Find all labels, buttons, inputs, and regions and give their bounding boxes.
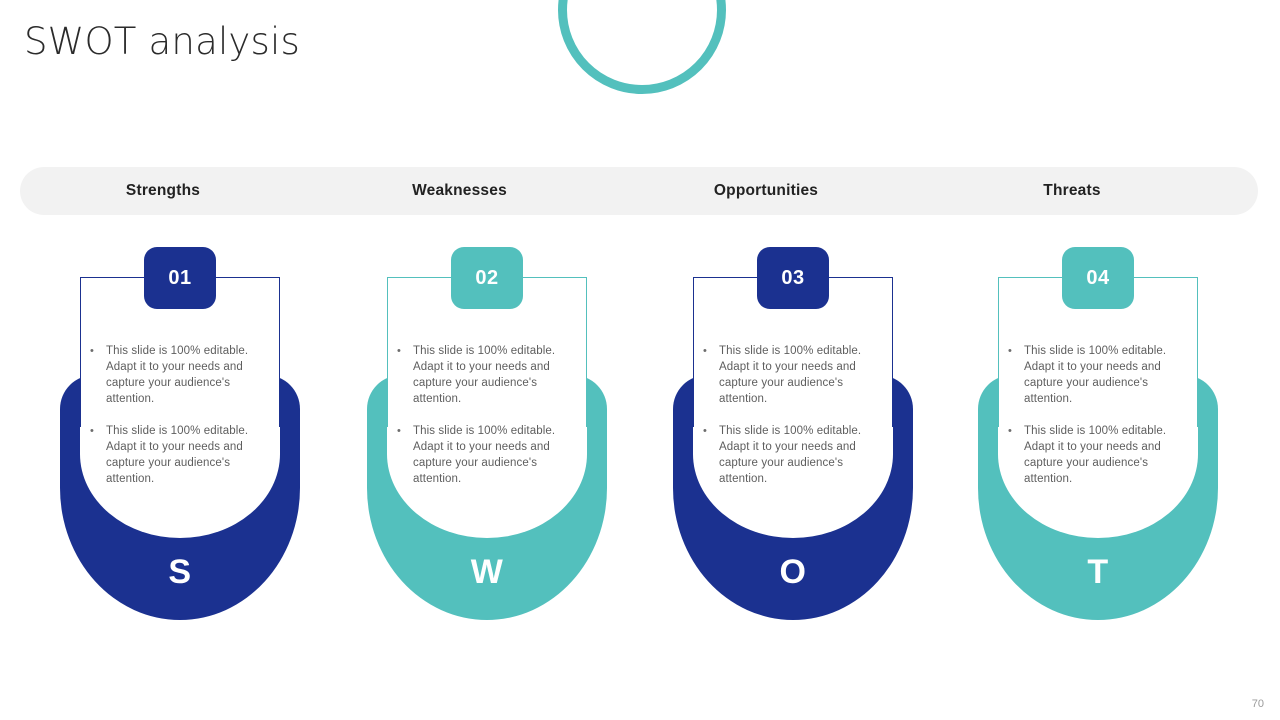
card-number-label: 01: [168, 267, 191, 290]
bullet-text: This slide is 100% editable. Adapt it to…: [106, 343, 277, 407]
list-item: • This slide is 100% editable. Adapt it …: [394, 423, 584, 487]
bullet-dot-icon: •: [700, 343, 719, 407]
bullet-text: This slide is 100% editable. Adapt it to…: [1024, 343, 1195, 407]
list-item: • This slide is 100% editable. Adapt it …: [700, 423, 890, 487]
card-number-badge: 01: [144, 247, 216, 309]
card-letter: O: [668, 553, 918, 592]
list-item: • This slide is 100% editable. Adapt it …: [700, 343, 890, 407]
bullet-text: This slide is 100% editable. Adapt it to…: [1024, 423, 1195, 487]
bullet-dot-icon: •: [700, 423, 719, 487]
swot-card-opportunities[interactable]: 03 • This slide is 100% editable. Adapt …: [668, 235, 918, 655]
card-number-badge: 03: [757, 247, 829, 309]
bullet-text: This slide is 100% editable. Adapt it to…: [413, 343, 584, 407]
card-bullet-list: • This slide is 100% editable. Adapt it …: [1005, 343, 1195, 503]
card-number-label: 02: [475, 267, 498, 290]
card-letter: S: [55, 553, 305, 592]
decorative-circle-icon: [558, 0, 726, 94]
bullet-dot-icon: •: [394, 423, 413, 487]
header-label-opportunities: Opportunities: [613, 182, 919, 200]
bullet-dot-icon: •: [1005, 423, 1024, 487]
swot-card-weaknesses[interactable]: 02 • This slide is 100% editable. Adapt …: [362, 235, 612, 655]
list-item: • This slide is 100% editable. Adapt it …: [394, 343, 584, 407]
card-number-label: 04: [1086, 267, 1109, 290]
header-label-strengths: Strengths: [20, 182, 306, 200]
swot-card-strengths[interactable]: 01 • This slide is 100% editable. Adapt …: [55, 235, 305, 655]
header-label-threats: Threats: [919, 182, 1225, 200]
card-number-badge: 04: [1062, 247, 1134, 309]
list-item: • This slide is 100% editable. Adapt it …: [87, 343, 277, 407]
swot-columns: 01 • This slide is 100% editable. Adapt …: [0, 235, 1280, 655]
card-bullet-list: • This slide is 100% editable. Adapt it …: [87, 343, 277, 503]
list-item: • This slide is 100% editable. Adapt it …: [87, 423, 277, 487]
bullet-text: This slide is 100% editable. Adapt it to…: [106, 423, 277, 487]
page-number: 70: [1252, 698, 1264, 710]
page-title: SWOT analysis: [24, 20, 300, 63]
bullet-text: This slide is 100% editable. Adapt it to…: [719, 423, 890, 487]
swot-header-bar: Strengths Weaknesses Opportunities Threa…: [20, 167, 1258, 215]
list-item: • This slide is 100% editable. Adapt it …: [1005, 343, 1195, 407]
card-letter: T: [973, 553, 1223, 592]
header-label-weaknesses: Weaknesses: [306, 182, 613, 200]
list-item: • This slide is 100% editable. Adapt it …: [1005, 423, 1195, 487]
card-number-label: 03: [781, 267, 804, 290]
bullet-text: This slide is 100% editable. Adapt it to…: [719, 343, 890, 407]
bullet-text: This slide is 100% editable. Adapt it to…: [413, 423, 584, 487]
card-number-badge: 02: [451, 247, 523, 309]
bullet-dot-icon: •: [87, 423, 106, 487]
bullet-dot-icon: •: [87, 343, 106, 407]
bullet-dot-icon: •: [394, 343, 413, 407]
card-bullet-list: • This slide is 100% editable. Adapt it …: [394, 343, 584, 503]
card-letter: W: [362, 553, 612, 592]
bullet-dot-icon: •: [1005, 343, 1024, 407]
swot-card-threats[interactable]: 04 • This slide is 100% editable. Adapt …: [973, 235, 1223, 655]
card-bullet-list: • This slide is 100% editable. Adapt it …: [700, 343, 890, 503]
